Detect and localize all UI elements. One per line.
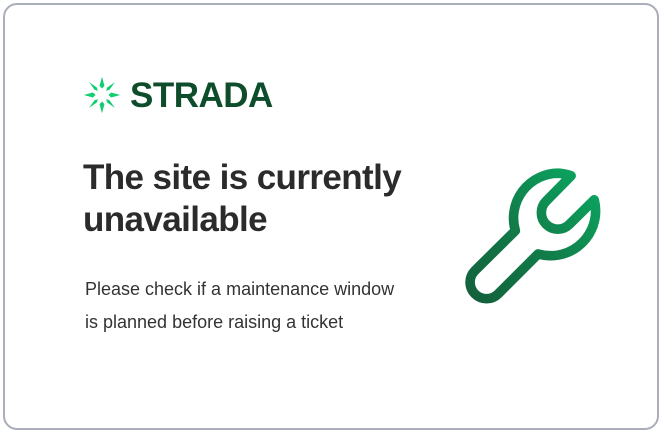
asterisk-starburst-icon — [83, 76, 121, 114]
brand-wordmark: STRADA — [130, 78, 273, 113]
page-description: Please check if a maintenance window is … — [85, 273, 395, 339]
brand-lockup: STRADA — [83, 75, 273, 115]
error-page: STRADA The site is currently unavailable… — [0, 0, 666, 436]
wrench-icon — [460, 160, 615, 315]
status-card: STRADA The site is currently unavailable… — [3, 3, 659, 430]
page-title: The site is currently unavailable — [83, 157, 423, 241]
